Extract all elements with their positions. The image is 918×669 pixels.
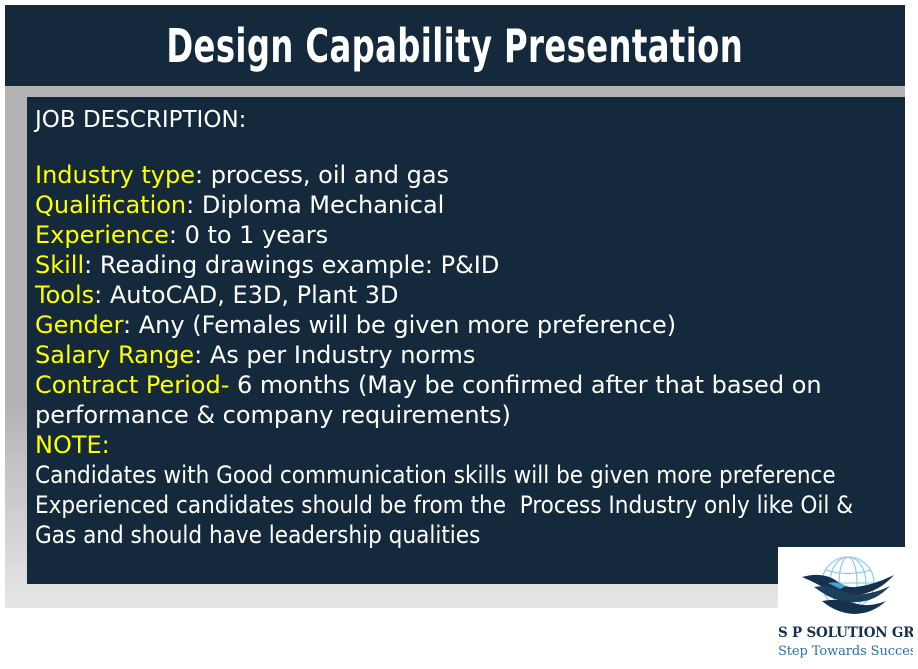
job-field-separator: :: [186, 191, 202, 219]
job-field-value: AutoCAD, E3D, Plant 3D: [110, 281, 399, 309]
job-field-value: process, oil and gas: [211, 161, 449, 189]
job-field-label: Salary Range: [35, 341, 194, 369]
job-field-value: 0 to 1 years: [185, 221, 329, 249]
job-field-label: Tools: [35, 281, 94, 309]
job-field-separator: :: [94, 281, 110, 309]
logo-tagline: Step Towards Success: [778, 644, 918, 659]
job-field-separator: [229, 371, 237, 399]
job-field-value: Diploma Mechanical: [202, 191, 444, 219]
logo-company-name: S P SOLUTION GROUP: [778, 625, 918, 641]
job-field-label: Qualification: [35, 191, 186, 219]
job-field-label: Experience: [35, 221, 169, 249]
globe-bird-logo-icon: [794, 551, 902, 625]
job-field-label: Gender: [35, 311, 123, 339]
job-note-line: Experienced candidates should be from th…: [35, 490, 897, 550]
job-field-label: Skill: [35, 251, 84, 279]
job-field-line: Tools: AutoCAD, E3D, Plant 3D: [35, 280, 897, 310]
job-description-heading: JOB DESCRIPTION:: [35, 105, 897, 135]
job-notes-list: Candidates with Good communication skill…: [35, 460, 897, 550]
slide-title-bar: Design Capability Presentation: [5, 5, 905, 86]
job-field-separator: :: [194, 341, 210, 369]
job-fields-list: Industry type: process, oil and gasQuali…: [35, 160, 897, 460]
job-field-line: NOTE:: [35, 430, 897, 460]
job-field-separator: :: [169, 221, 185, 249]
job-field-value: As per Industry norms: [210, 341, 476, 369]
job-field-label: NOTE:: [35, 431, 110, 459]
job-field-line: Skill: Reading drawings example: P&ID: [35, 250, 897, 280]
job-field-separator: :: [123, 311, 139, 339]
page-title: Design Capability Presentation: [5, 20, 905, 72]
job-field-value: Reading drawings example: P&ID: [100, 251, 500, 279]
job-field-separator: :: [84, 251, 100, 279]
job-field-line: Salary Range: As per Industry norms: [35, 340, 897, 370]
slide-canvas: Design Capability Presentation JOB DESCR…: [0, 0, 918, 669]
job-field-separator: :: [195, 161, 211, 189]
job-field-line: Qualification: Diploma Mechanical: [35, 190, 897, 220]
job-description-body: JOB DESCRIPTION: Industry type: process,…: [35, 105, 897, 550]
job-field-label: Contract Period-: [35, 371, 229, 399]
job-field-line: Gender: Any (Females will be given more …: [35, 310, 897, 340]
job-field-line: Experience: 0 to 1 years: [35, 220, 897, 250]
job-field-line: Contract Period- 6 months (May be confir…: [35, 370, 897, 430]
heading-spacer: [35, 135, 897, 160]
company-logo: S P SOLUTION GROUP Step Towards Success: [778, 547, 918, 669]
job-field-label: Industry type: [35, 161, 195, 189]
job-description-panel: JOB DESCRIPTION: Industry type: process,…: [27, 97, 905, 584]
page-title-text: Design Capability Presentation: [167, 20, 744, 72]
page-right-edge: [913, 0, 918, 669]
job-note-line: Candidates with Good communication skill…: [35, 460, 897, 490]
job-field-value: Any (Females will be given more preferen…: [139, 311, 676, 339]
job-field-line: Industry type: process, oil and gas: [35, 160, 897, 190]
content-frame: JOB DESCRIPTION: Industry type: process,…: [5, 86, 905, 608]
